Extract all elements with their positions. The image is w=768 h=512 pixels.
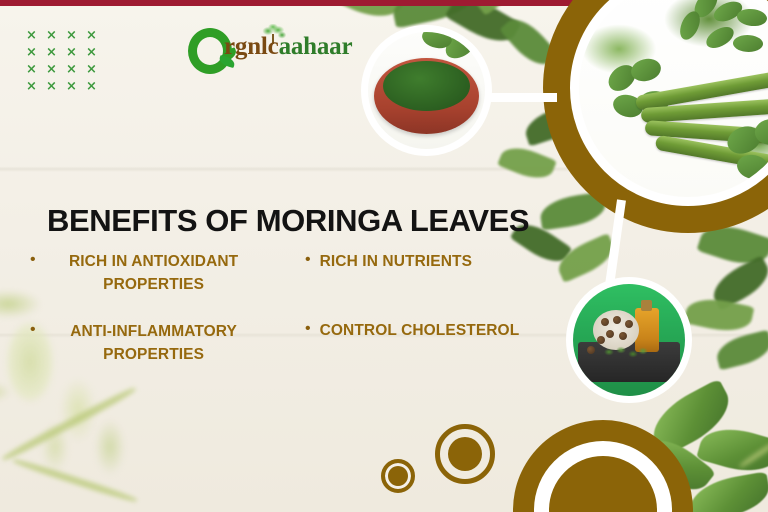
seed-shape	[613, 316, 621, 324]
logo-text-part-2: nlc	[247, 33, 278, 60]
seed-shape	[625, 320, 633, 328]
x-icon: ×	[26, 78, 46, 95]
x-icon: ×	[26, 27, 46, 44]
bottle-cap-shape	[641, 300, 652, 311]
x-icon: ×	[46, 78, 66, 95]
benefits-column-right: • RICH IN NUTRIENTS • CONTROL CHOLESTERO…	[305, 250, 585, 388]
seed-shape	[597, 336, 605, 344]
x-icon: ×	[46, 61, 66, 78]
seed-shape	[587, 346, 595, 354]
image-moringa-drumsticks	[570, 0, 768, 206]
benefit-label: RICH IN NUTRIENTS	[320, 250, 472, 273]
x-icon: ×	[66, 78, 86, 95]
leaf-shape	[630, 57, 662, 82]
benefit-label: ANTI-INFLAMMATORY PROPERTIES	[45, 320, 263, 366]
x-icon: ×	[66, 44, 86, 61]
x-icon: ×	[46, 27, 66, 44]
logo-text-part-3: aahaar	[279, 33, 353, 60]
benefit-label: RICH IN ANTIOXIDANT PROPERTIES	[45, 250, 263, 296]
image-moringa-seeds-oil	[566, 277, 692, 403]
list-item: • ANTI-INFLAMMATORY PROPERTIES	[30, 320, 300, 366]
x-icon: ×	[46, 44, 66, 61]
x-icon: ×	[26, 61, 46, 78]
connector-line	[487, 93, 557, 102]
bullet-icon: •	[305, 250, 311, 270]
list-item: • CONTROL CHOLESTEROL	[305, 319, 585, 342]
logo-wordmark: rgnlcaahaar	[224, 33, 352, 61]
decorative-circle-medium-core	[448, 437, 482, 471]
decorative-circle-small-core	[389, 467, 407, 485]
x-icon: ×	[86, 27, 106, 44]
poster-canvas: × × × × × × × × × × × × × × × × rgnlcaah…	[0, 0, 768, 512]
seed-shape	[619, 332, 627, 340]
leaf-shape	[703, 23, 737, 51]
logo-text-part-1: rg	[224, 33, 247, 60]
bullet-icon: •	[30, 250, 36, 270]
paste-shape	[383, 61, 470, 111]
list-item: • RICH IN ANTIOXIDANT PROPERTIES	[30, 250, 300, 296]
x-icon: ×	[86, 78, 106, 95]
top-accent-bar	[0, 0, 660, 6]
x-icon: ×	[66, 27, 86, 44]
drumstick-photo-body	[579, 0, 768, 197]
x-icon: ×	[66, 61, 86, 78]
x-icon: ×	[86, 61, 106, 78]
seed-shape	[606, 330, 614, 338]
x-icon: ×	[26, 44, 46, 61]
bullet-icon: •	[30, 320, 36, 340]
leaf-shape	[736, 7, 768, 29]
page-title: BENEFITS OF MORINGA LEAVES	[47, 203, 529, 239]
list-item: • RICH IN NUTRIENTS	[305, 250, 585, 273]
image-moringa-paste-bowl	[361, 25, 492, 156]
leaf-shape	[603, 346, 647, 362]
benefits-column-left: • RICH IN ANTIOXIDANT PROPERTIES • ANTI-…	[30, 250, 300, 390]
bullet-icon: •	[305, 319, 311, 339]
brand-logo[interactable]: rgnlcaahaar	[188, 24, 356, 76]
leaf-shape	[732, 33, 764, 53]
seed-shape	[601, 318, 609, 326]
benefit-label: CONTROL CHOLESTEROL	[320, 319, 520, 342]
bowl-photo-body	[368, 32, 485, 149]
x-icon: ×	[86, 44, 106, 61]
oil-photo-body	[573, 284, 685, 396]
x-grid-decoration: × × × × × × × × × × × × × × × ×	[26, 27, 106, 95]
